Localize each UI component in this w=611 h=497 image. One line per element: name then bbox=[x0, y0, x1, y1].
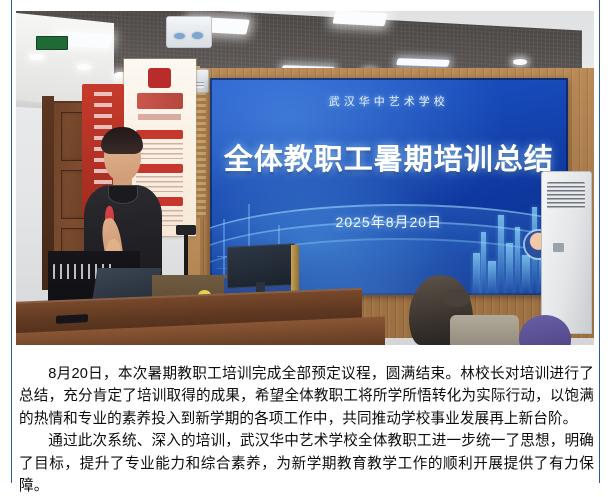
speaker-hair bbox=[101, 127, 143, 154]
screen-headline: 全体教职工暑期培训总结 bbox=[210, 136, 568, 178]
banner-seal bbox=[148, 68, 171, 87]
right-margin-rule bbox=[599, 0, 600, 483]
exit-sign bbox=[36, 36, 68, 50]
screen-school-name: 武汉华中艺术学校 bbox=[210, 93, 568, 109]
article-body: 8月20日，本次暑期教职工培训完成全部预定议程，圆满结束。林校长对培训进行了总结… bbox=[19, 363, 594, 497]
sensor-indicator bbox=[174, 33, 185, 40]
standing-air-conditioner bbox=[541, 171, 592, 333]
audience-hair-bun bbox=[443, 289, 470, 306]
chair-back bbox=[450, 315, 519, 345]
sensor-indicator bbox=[192, 32, 203, 39]
ceiling-downlight bbox=[77, 64, 91, 69]
banner-subtitle-line bbox=[138, 114, 181, 120]
article-paragraph: 通过此次系统、深入的培训，武汉华中艺术学校全体教职工进一步统一了思想，明确了目标… bbox=[19, 430, 594, 497]
speaker-collar bbox=[108, 185, 139, 204]
microphone-stand-head bbox=[176, 225, 197, 235]
ceiling-downlight bbox=[29, 54, 44, 59]
article-paragraph: 8月20日，本次暑期教职工培训完成全部预定议程，圆满结束。林校长对培训进行了总结… bbox=[19, 363, 594, 430]
photo-scene: 武汉华中艺术学校 全体教职工暑期培训总结 2025年8月20日 bbox=[16, 11, 594, 345]
wall-sensor-unit bbox=[166, 16, 211, 48]
banner-title-block bbox=[137, 93, 183, 109]
left-margin-rule bbox=[11, 0, 12, 483]
screen-date: 2025年8月20日 bbox=[210, 212, 568, 232]
article-page: 武汉华中艺术学校 全体教职工暑期培训总结 2025年8月20日 bbox=[0, 0, 611, 483]
training-summary-meeting-photo: 武汉华中艺术学校 全体教职工暑期培训总结 2025年8月20日 bbox=[16, 11, 594, 345]
ceiling-downlight bbox=[513, 59, 527, 64]
